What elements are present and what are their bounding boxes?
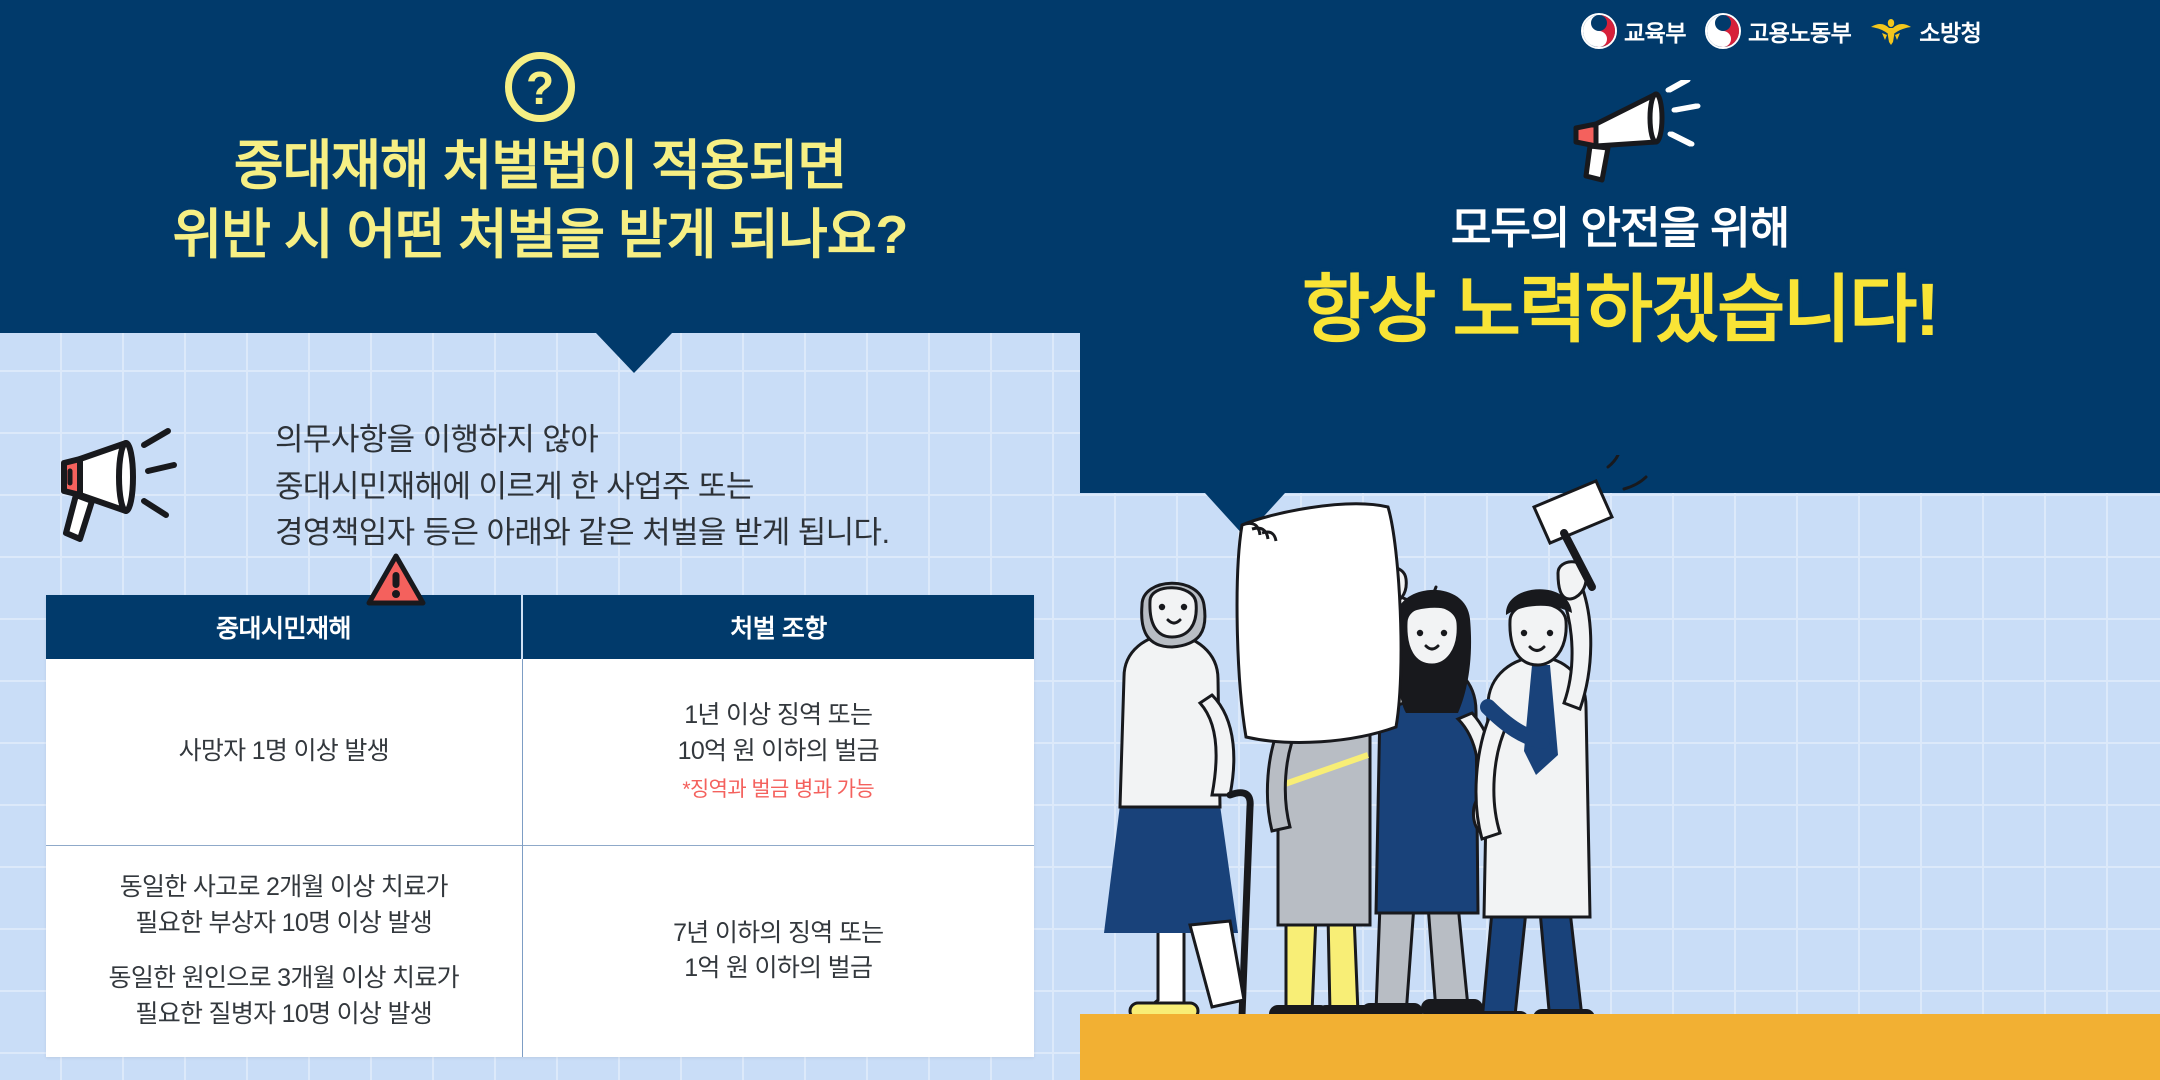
disaster-text-line-1: 사망자 1명 이상 발생 <box>179 737 389 765</box>
left-body-line-3: 경영책임자 등은 아래와 같은 처벌을 받게 됩니다. <box>275 510 1035 557</box>
figure-man-with-gavel <box>1467 481 1612 1029</box>
penalty-text-line-1: 7년 이하의 징역 또는 <box>539 916 1019 952</box>
table-cell-disaster: 사망자 1명 이상 발생 <box>46 659 522 845</box>
disaster-text-line-2: 필요한 부상자 10명 이상 발생 <box>62 906 506 942</box>
left-body-line-2: 중대시민재해에 이르게 한 사업주 또는 <box>275 464 1035 511</box>
megaphone-icon <box>52 425 182 545</box>
left-header-speech-notch <box>596 333 672 373</box>
right-headline: 항상 노력하겠습니다! <box>1080 250 2160 357</box>
table-header-row: 중대시민재해 처벌 조항 <box>46 595 1034 659</box>
logo-label: 고용노동부 <box>1748 14 1851 48</box>
spacer <box>62 941 506 961</box>
disaster-text-line-1: 동일한 사고로 2개월 이상 치료가 <box>62 870 506 906</box>
penalty-text-line-2: 10억 원 이하의 벌금 <box>539 734 1019 770</box>
table-cell-disaster: 동일한 사고로 2개월 이상 치료가 필요한 부상자 10명 이상 발생 동일한… <box>46 845 522 1057</box>
left-body-text: 의무사항을 이행하지 않아 중대시민재해에 이르게 한 사업주 또는 경영책임자… <box>275 417 1035 557</box>
megaphone-icon <box>1560 80 1710 190</box>
disaster-text-line-3: 동일한 원인으로 3개월 이상 치료가 <box>62 961 506 997</box>
table-header-penalty: 처벌 조항 <box>522 595 1034 659</box>
page-title-line-1: 중대재해 처벌법이 적용되면 <box>0 132 1080 201</box>
page-title-line-2: 위반 시 어떤 처벌을 받게 되나요? <box>0 201 1080 270</box>
logo-label: 소방청 <box>1919 14 1981 48</box>
taegeuk-logo-icon <box>1580 12 1618 50</box>
logo-ministry-of-employment-and-labor: 고용노동부 <box>1704 12 1851 50</box>
right-subtitle: 모두의 안전을 위해 <box>1080 192 2160 256</box>
question-mark-circle-icon: ? <box>505 52 575 122</box>
logo-ministry-of-education: 교육부 <box>1580 12 1686 50</box>
illustration-floor <box>1080 1014 2160 1080</box>
disaster-text-line-4: 필요한 질병자 10명 이상 발생 <box>62 997 506 1033</box>
table-row: 동일한 사고로 2개월 이상 치료가 필요한 부상자 10명 이상 발생 동일한… <box>46 845 1034 1057</box>
penalty-text-line-2: 1억 원 이하의 벌금 <box>539 951 1019 987</box>
ministry-logos: 교육부 고용노동부 소방청 <box>1580 12 1981 50</box>
penalty-table: 중대시민재해 처벌 조항 사망자 1명 이상 발생 1년 이상 징역 또는 10… <box>46 595 1034 1057</box>
penalty-text-line-1: 1년 이상 징역 또는 <box>539 698 1019 734</box>
motion-accent-lines <box>1608 455 1646 489</box>
illustration-people-group: 중대재해 처벌법 <box>1080 455 2160 1080</box>
table-row: 사망자 1명 이상 발생 1년 이상 징역 또는 10억 원 이하의 벌금 *징… <box>46 659 1034 845</box>
figure-elderly-woman <box>1104 583 1250 1019</box>
taegeuk-logo-icon <box>1704 12 1742 50</box>
table-cell-penalty: 7년 이하의 징역 또는 1억 원 이하의 벌금 <box>522 845 1034 1057</box>
logo-fire-agency: 소방청 <box>1869 14 1981 48</box>
left-body-line-1: 의무사항을 이행하지 않아 <box>275 417 1035 464</box>
table-cell-penalty: 1년 이상 징역 또는 10억 원 이하의 벌금 *징역과 벌금 병과 가능 <box>522 659 1034 845</box>
illustration-svg <box>1080 455 2160 1080</box>
warning-triangle-icon <box>366 552 426 608</box>
law-document <box>1237 504 1401 743</box>
fire-agency-eagle-icon <box>1869 16 1913 46</box>
page-title: 중대재해 처벌법이 적용되면 위반 시 어떤 처벌을 받게 되나요? <box>0 132 1080 270</box>
logo-label: 교육부 <box>1624 14 1686 48</box>
table-header-disaster: 중대시민재해 <box>46 595 522 659</box>
penalty-note: *징역과 벌금 병과 가능 <box>539 775 1019 805</box>
